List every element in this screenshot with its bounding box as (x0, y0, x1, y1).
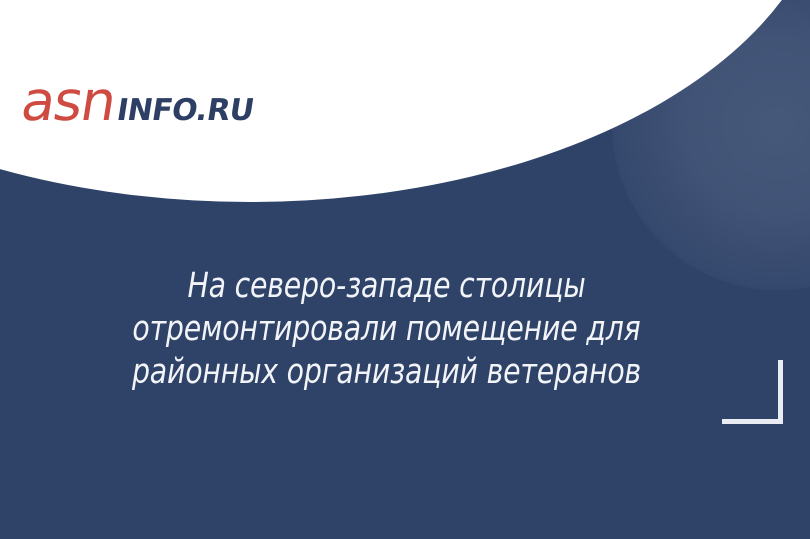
headline-text: На северо-западе столицы отремонтировали… (93, 265, 681, 394)
corner-bracket-vertical-bar (778, 360, 783, 424)
corner-bracket-decoration (722, 360, 783, 424)
corner-bracket-horizontal-bar (722, 419, 783, 424)
brand-logo-primary-text: asn (18, 74, 119, 129)
brand-logo[interactable]: asn INFO.RU (22, 74, 253, 130)
news-share-card: asn INFO.RU На северо-западе столицы отр… (0, 0, 810, 539)
brand-logo-secondary-text: INFO.RU (114, 96, 255, 126)
